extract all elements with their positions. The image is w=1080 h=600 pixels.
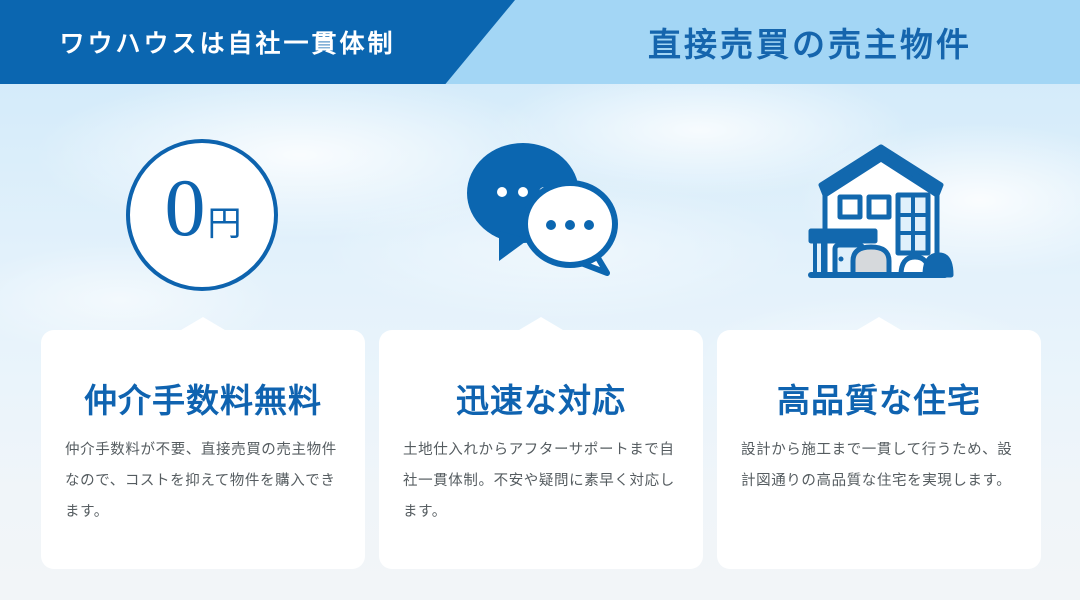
infographic-page: ワウハウスは自社一貫体制 直接売買の売主物件 0 円 bbox=[0, 0, 1080, 600]
speech-bubbles-svg bbox=[455, 135, 625, 295]
zero-amount: 0 bbox=[165, 167, 206, 249]
icon-slot-response bbox=[372, 120, 708, 310]
yen-unit: 円 bbox=[208, 208, 242, 242]
card-title: 高品質な住宅 bbox=[717, 374, 1041, 422]
feature-card-fee[interactable]: 仲介手数料無料 仲介手数料が不要、直接売買の売主物件なので、コストを抑えて物件を… bbox=[41, 330, 365, 569]
card-pointer-notch bbox=[181, 317, 225, 330]
house-icon bbox=[793, 135, 963, 295]
speech-bubbles-icon bbox=[455, 135, 625, 295]
feature-cards: 仲介手数料無料 仲介手数料が不要、直接売買の売主物件なので、コストを抑えて物件を… bbox=[0, 318, 1080, 558]
card-body: 設計から施工まで一貫して行うため、設計図通りの高品質な住宅を実現します。 bbox=[741, 435, 1017, 497]
card-pointer-notch bbox=[857, 317, 901, 330]
page-title: 直接売買の売主物件 bbox=[540, 0, 1080, 84]
header-banner: ワウハウスは自社一貫体制 直接売買の売主物件 bbox=[0, 0, 1080, 84]
icon-row: 0 円 bbox=[0, 120, 1080, 310]
house-svg bbox=[793, 135, 963, 295]
header-left-badge-text: ワウハウスは自社一貫体制 bbox=[0, 0, 455, 84]
card-title: 迅速な対応 bbox=[379, 374, 703, 422]
icon-slot-fee: 0 円 bbox=[34, 120, 370, 310]
card-pointer-notch bbox=[519, 317, 563, 330]
card-title: 仲介手数料無料 bbox=[41, 374, 365, 422]
card-body: 仲介手数料が不要、直接売買の売主物件なので、コストを抑えて物件を購入できます。 bbox=[65, 435, 341, 528]
feature-card-quality[interactable]: 高品質な住宅 設計から施工まで一貫して行うため、設計図通りの高品質な住宅を実現し… bbox=[717, 330, 1041, 569]
zero-yen-circle-icon: 0 円 bbox=[126, 139, 278, 291]
feature-card-response[interactable]: 迅速な対応 土地仕入れからアフターサポートまで自社一貫体制。不安や疑問に素早く対… bbox=[379, 330, 703, 569]
icon-slot-quality bbox=[710, 120, 1046, 310]
card-body: 土地仕入れからアフターサポートまで自社一貫体制。不安や疑問に素早く対応します。 bbox=[403, 435, 679, 528]
outlined-speech-bubble bbox=[525, 183, 615, 273]
